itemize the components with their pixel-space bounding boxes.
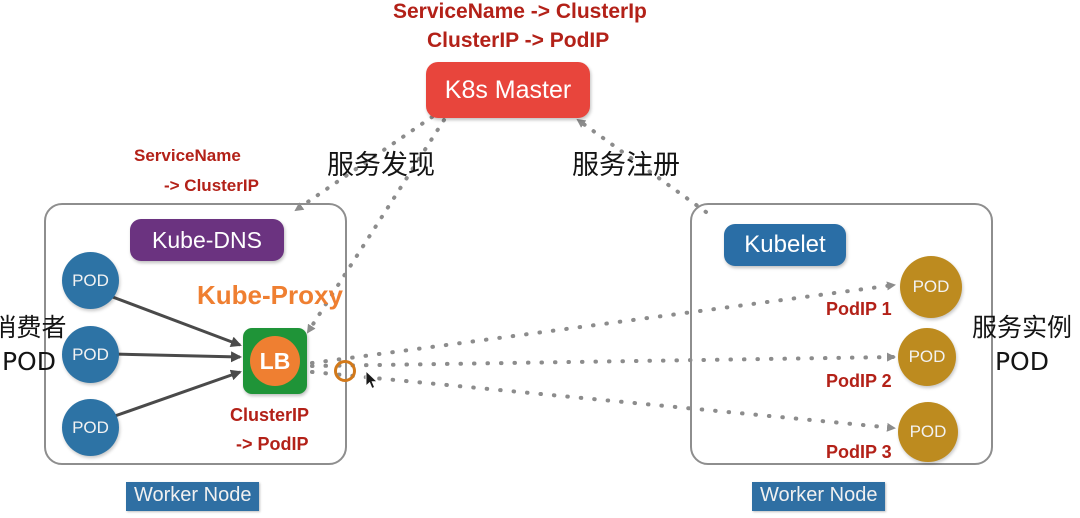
podip-3-label: PodIP 3 [826,441,892,464]
consumer-pod-1-label: POD [72,271,109,291]
service-pod-2[interactable]: POD [898,328,956,386]
left-worker-node-tag: Worker Node [126,482,259,511]
header-mapping-line1: ServiceName -> ClusterIp [393,0,647,25]
load-balancer-label: LB [260,348,291,375]
podip-1-label: PodIP 1 [826,298,892,321]
service-instance-side-label-line2: POD [966,345,1078,379]
kubelet-label: Kubelet [744,231,825,259]
podip-2-label: PodIP 2 [826,370,892,393]
left-service-mapping-line1: ServiceName [134,145,241,167]
cluster-mapping-line2: -> PodIP [236,433,309,456]
mouse-cursor-icon [365,370,379,390]
consumer-side-label-line2: POD [0,345,76,379]
consumer-pod-3[interactable]: POD [62,399,119,456]
k8s-master-box[interactable]: K8s Master [426,62,590,118]
service-registration-label: 服务注册 [572,143,680,182]
service-discovery-label: 服务发现 [327,143,435,182]
kube-dns-box[interactable]: Kube-DNS [130,219,284,261]
load-balancer-circle: LB [250,336,300,386]
consumer-side-label-line1: 消费者 [0,311,76,345]
k8s-master-label: K8s Master [445,76,571,105]
diagram-canvas: ServiceName -> ClusterIp ClusterIP -> Po… [0,0,1080,518]
service-pod-1[interactable]: POD [900,256,962,318]
kubelet-box[interactable]: Kubelet [724,224,846,266]
consumer-side-label: 消费者 POD [0,311,76,379]
consumer-pod-1[interactable]: POD [62,252,119,309]
right-worker-node-tag: Worker Node [752,482,885,511]
kube-proxy-label: Kube-Proxy [197,280,343,311]
service-instance-side-label-line1: 服务实例 [966,311,1078,345]
consumer-pod-2-label: POD [72,345,109,365]
load-balancer-box[interactable]: LB [243,328,307,394]
consumer-pod-3-label: POD [72,418,109,438]
service-pod-2-label: POD [909,347,946,367]
cluster-mapping-line1: ClusterIP [230,404,309,427]
service-pod-3-label: POD [910,422,947,442]
kube-dns-label: Kube-DNS [152,227,262,254]
header-mapping-line2: ClusterIP -> PodIP [427,27,609,54]
service-pod-3[interactable]: POD [898,402,958,462]
service-pod-1-label: POD [913,277,950,297]
service-instance-side-label: 服务实例 POD [966,311,1078,379]
click-indicator-ring [334,360,356,382]
left-service-mapping-line2: -> ClusterIP [164,175,259,197]
